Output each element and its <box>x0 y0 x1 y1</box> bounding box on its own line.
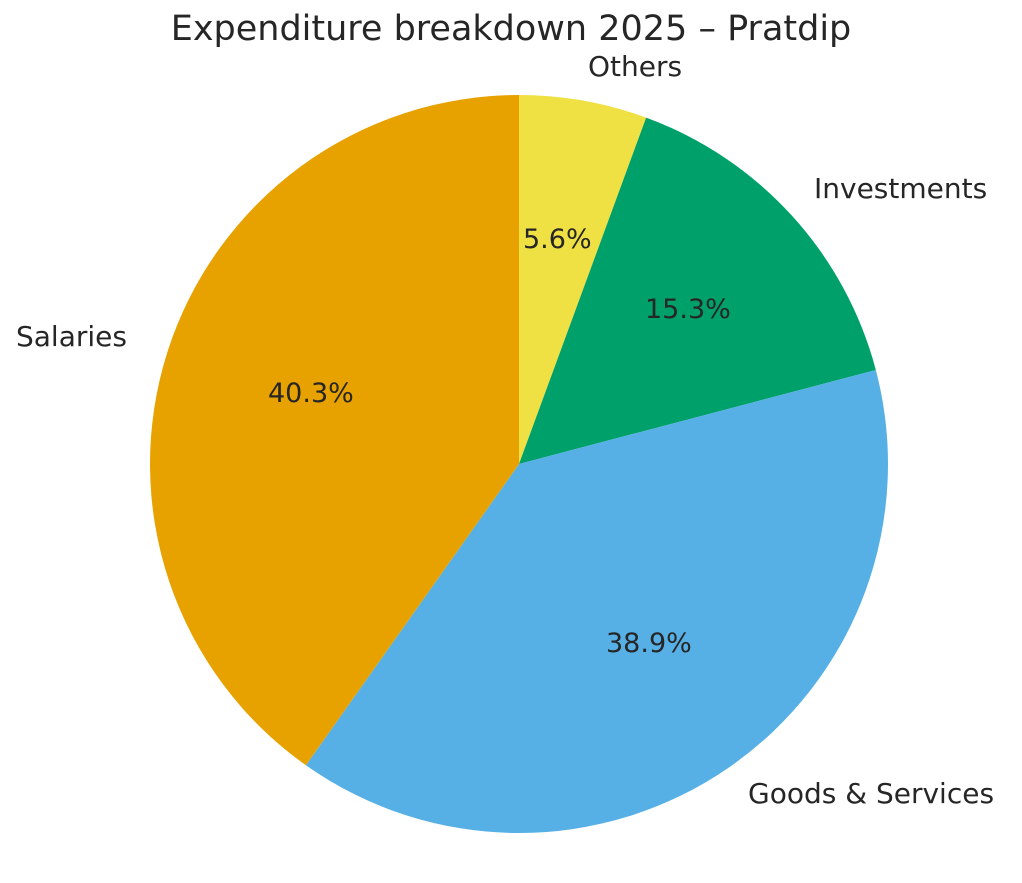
pie-chart-figure: Expenditure breakdown 2025 – Pratdip Oth… <box>0 0 1022 883</box>
pie-label-investments: Investments <box>814 172 987 206</box>
pie-label-salaries: Salaries <box>16 320 127 354</box>
pie-percent-salaries: 40.3% <box>268 378 354 410</box>
pie-percent-others: 5.6% <box>523 224 592 256</box>
pie-percent-goods-services: 38.9% <box>606 628 692 660</box>
pie-wedges <box>150 95 888 833</box>
pie-label-others: Others <box>588 50 682 84</box>
pie-percent-investments: 15.3% <box>645 294 731 326</box>
pie-label-goods-services: Goods & Services <box>748 777 994 811</box>
pie-chart-canvas <box>0 0 1022 883</box>
